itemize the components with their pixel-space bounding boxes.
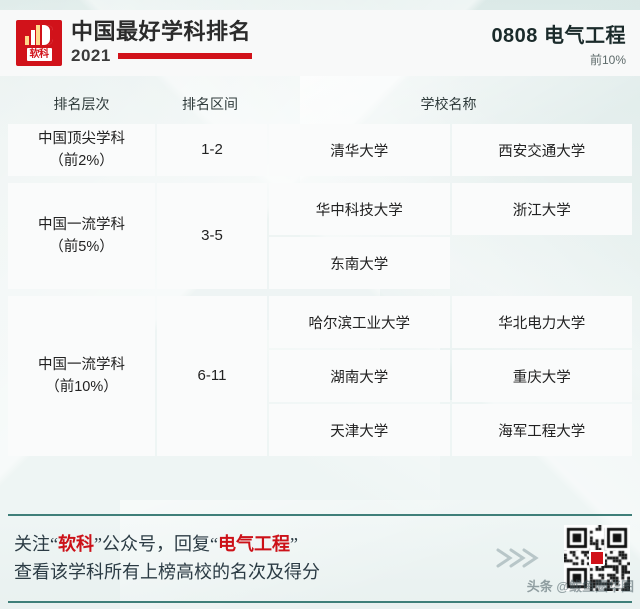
school-name: 海军工程大学 [452, 404, 633, 456]
school-name: 重庆大学 [452, 350, 633, 402]
cell-range: 3-5 [157, 183, 267, 289]
tier-percent: （前2%） [38, 150, 125, 172]
school-name: 东南大学 [269, 237, 450, 289]
footer-divider [8, 514, 632, 516]
subject-block: 0808 电气工程 前10% [491, 19, 626, 68]
footer-highlight-brand: 软科 [58, 534, 94, 554]
ranking-table: 排名层次 排名区间 学校名称 中国顶尖学科（前2%）1-2清华大学西安交通大学中… [8, 84, 632, 463]
tier-percent: （前5%） [38, 236, 125, 258]
tier-label: 中国一流学科 [38, 214, 125, 236]
footer-l1-a: 关注 [14, 534, 50, 554]
brand: 软科 中国最好学科排名 2021 [16, 20, 252, 66]
tier-percent: （前10%） [38, 376, 125, 398]
column-header-tier: 排名层次 [8, 94, 155, 114]
footer-quote-open-1: “ [50, 534, 58, 554]
school-line: 清华大学西安交通大学 [269, 124, 632, 176]
qr-center-logo-icon [589, 550, 605, 566]
red-rule [118, 53, 252, 59]
table-row: 中国一流学科（前10%）6-11哈尔滨工业大学华北电力大学湖南大学重庆大学天津大… [8, 296, 632, 456]
ranking-poster: 软科 中国最好学科排名 2021 0808 电气工程 前10% 排名层次 排名区… [0, 0, 640, 609]
school-line: 湖南大学重庆大学 [269, 350, 632, 402]
cell-range: 6-11 [157, 296, 267, 456]
footer-bottom-divider [8, 601, 632, 603]
school-name: 华中科技大学 [269, 183, 450, 235]
school-name: 西安交通大学 [452, 124, 633, 176]
table-row: 中国一流学科（前5%）3-5华中科技大学浙江大学东南大学 [8, 183, 632, 289]
footer-quote-open-2: “ [210, 534, 218, 554]
bar-chart-icon [25, 25, 53, 45]
tier-label: 中国顶尖学科 [38, 128, 125, 150]
table-body: 中国顶尖学科（前2%）1-2清华大学西安交通大学中国一流学科（前5%）3-5华中… [8, 124, 632, 456]
school-name: 湖南大学 [269, 350, 450, 402]
cell-schools: 哈尔滨工业大学华北电力大学湖南大学重庆大学天津大学海军工程大学 [269, 296, 632, 456]
table-row: 中国顶尖学科（前2%）1-2清华大学西安交通大学 [8, 124, 632, 176]
tier-label: 中国一流学科 [38, 354, 125, 376]
brand-text: 中国最好学科排名 2021 [71, 20, 252, 66]
school-line: 天津大学海军工程大学 [269, 404, 632, 456]
school-empty [452, 237, 633, 289]
year-row: 2021 [71, 46, 252, 66]
school-name: 天津大学 [269, 404, 450, 456]
column-header-range: 排名区间 [155, 94, 265, 114]
watermark: 头条 @鲅鱼圈华图 [527, 576, 634, 595]
column-header-school: 学校名称 [265, 94, 632, 114]
school-line: 哈尔滨工业大学华北电力大学 [269, 296, 632, 348]
cell-tier: 中国一流学科（前10%） [8, 296, 155, 456]
subject-title: 0808 电气工程 [491, 19, 626, 48]
school-name: 哈尔滨工业大学 [269, 296, 450, 348]
footer-quote-close-2: ” [290, 534, 298, 554]
cell-schools: 清华大学西安交通大学 [269, 124, 632, 176]
shanghairanking-logo-icon: 软科 [16, 20, 62, 66]
school-name: 清华大学 [269, 124, 450, 176]
footer-text: 关注“软科”公众号，回复“电气工程” 查看该学科所有上榜高校的名次及得分 [8, 530, 320, 586]
school-line: 华中科技大学浙江大学 [269, 183, 632, 235]
footer-l1-b: 公众号，回复 [102, 534, 210, 554]
school-name: 华北电力大学 [452, 296, 633, 348]
subject-percentile: 前10% [491, 51, 626, 68]
edition-year: 2021 [71, 46, 111, 66]
header: 软科 中国最好学科排名 2021 0808 电气工程 前10% [0, 10, 640, 76]
school-line: 东南大学 [269, 237, 632, 289]
page-title: 中国最好学科排名 [71, 20, 252, 44]
cell-schools: 华中科技大学浙江大学东南大学 [269, 183, 632, 289]
footer-line-1: 关注“软科”公众号，回复“电气工程” [14, 530, 320, 558]
table-header-row: 排名层次 排名区间 学校名称 [8, 84, 632, 124]
cell-range: 1-2 [157, 124, 267, 176]
cell-tier: 中国一流学科（前5%） [8, 183, 155, 289]
footer-line-2: 查看该学科所有上榜高校的名次及得分 [14, 558, 320, 586]
cell-tier: 中国顶尖学科（前2%） [8, 124, 155, 176]
school-name: 浙江大学 [452, 183, 633, 235]
footer-quote-close-1: ” [94, 534, 102, 554]
footer-highlight-subject: 电气工程 [218, 534, 290, 554]
chevrons-right-icon [494, 545, 550, 571]
logo-label: 软科 [27, 48, 52, 61]
